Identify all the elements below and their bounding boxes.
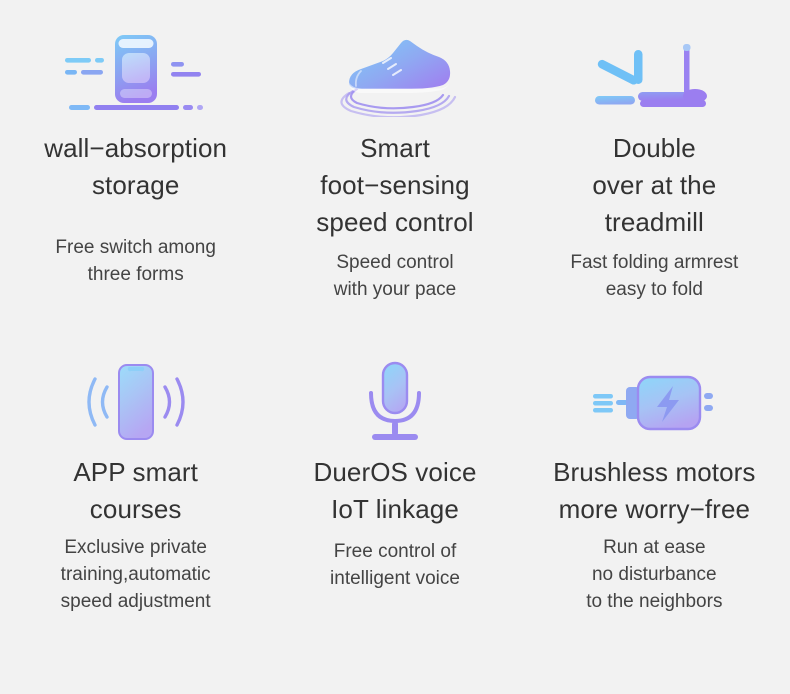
feature-grid: wall−absorption storage Free switch amon… xyxy=(0,0,790,694)
feature-card-brushless-motors: Brushless motors more worry−free Run at … xyxy=(525,356,784,686)
feature-title: Smart foot−sensing speed control xyxy=(316,130,473,241)
feature-description: Free switch among three forms xyxy=(55,234,216,288)
feature-card-double-over-treadmill: Double over at the treadmill Fast foldin… xyxy=(525,26,784,356)
microphone-icon xyxy=(357,356,433,448)
brushless-motor-battery-icon xyxy=(591,356,717,448)
feature-title: Brushless motors more worry−free xyxy=(553,454,755,528)
folding-armrest-treadmill-icon xyxy=(594,26,714,122)
feature-card-app-smart-courses: APP smart courses Exclusive private trai… xyxy=(6,356,265,686)
feature-title: DuerOS voice IoT linkage xyxy=(313,454,476,528)
feature-description: Exclusive private training,automatic spe… xyxy=(61,534,211,615)
smartphone-signal-icon xyxy=(81,356,191,448)
feature-card-wall-absorption-storage: wall−absorption storage Free switch amon… xyxy=(6,26,265,356)
feature-title: APP smart courses xyxy=(73,454,198,528)
feature-title: Double over at the treadmill xyxy=(592,130,716,241)
feature-description: Fast folding armrest easy to fold xyxy=(570,249,738,303)
running-shoe-sensing-icon xyxy=(331,26,459,122)
feature-card-dueros-voice-iot: DuerOS voice IoT linkage Free control of… xyxy=(265,356,524,686)
feature-description: Speed control with your pace xyxy=(334,249,457,303)
feature-description: Run at ease no disturbance to the neighb… xyxy=(586,534,722,615)
folded-treadmill-storage-icon xyxy=(61,26,211,122)
feature-card-foot-sensing-speed-control: Smart foot−sensing speed control Speed c… xyxy=(265,26,524,356)
feature-description: Free control of intelligent voice xyxy=(330,538,460,592)
feature-title: wall−absorption storage xyxy=(44,130,227,204)
